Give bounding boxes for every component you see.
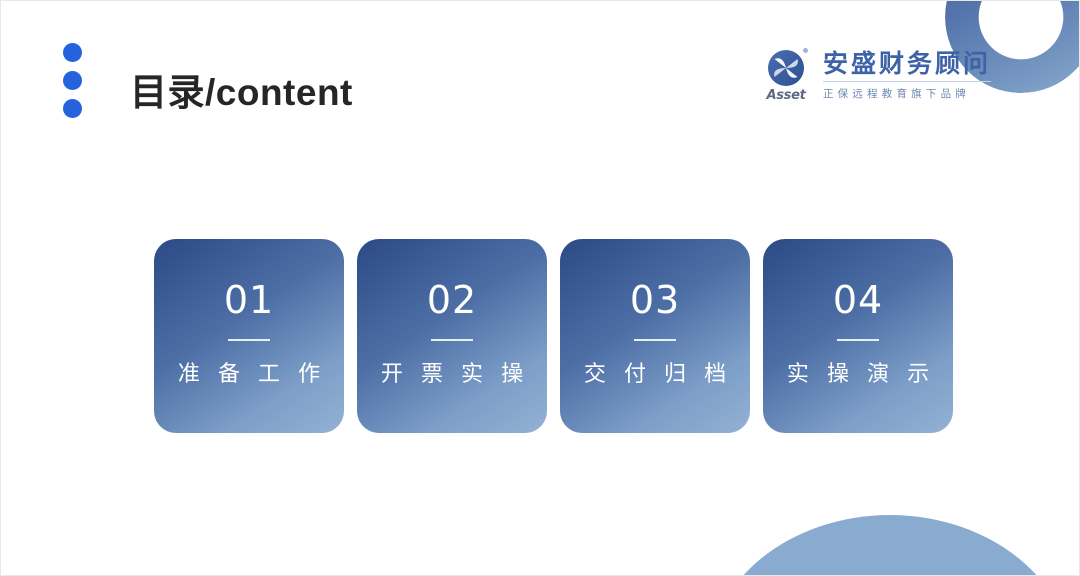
logo-tagline: 正保远程教育旗下品牌 [823,86,991,101]
card-number: 01 [224,281,274,319]
card-divider [431,339,473,341]
asset-pinwheel-icon [767,49,805,87]
logo-brand-name: 安盛财务顾问 [823,51,991,77]
content-card-02[interactable]: 02 开 票 实 操 [357,239,547,433]
content-card-03[interactable]: 03 交 付 归 档 [560,239,750,433]
card-divider [228,339,270,341]
content-card-04[interactable]: 04 实 操 演 示 [763,239,953,433]
logo-asset-wordmark: Asset [759,88,813,103]
bullet-dot-icon [63,71,82,90]
pinwheel-circle-icon [767,49,805,87]
bullet-dot-icon [63,43,82,62]
card-label: 准 备 工 作 [172,363,326,385]
content-card-list: 01 准 备 工 作 02 开 票 实 操 03 交 付 归 档 04 实 操 … [154,239,953,433]
logo-divider [823,81,991,82]
card-label: 交 付 归 档 [578,363,732,385]
card-label: 实 操 演 示 [781,363,935,385]
page-title: 目录/content [130,74,353,111]
bullet-dots-icon [63,43,82,118]
logo-text-block: 安盛财务顾问 正保远程教育旗下品牌 [823,49,991,101]
slide-header: 目录/content [63,41,353,118]
slide-canvas: 目录/content [0,0,1080,576]
card-number: 03 [630,281,680,319]
card-divider [837,339,879,341]
card-label: 开 票 实 操 [375,363,529,385]
registered-mark-dot-icon [803,48,808,53]
card-number: 02 [427,281,477,319]
card-number: 04 [833,281,883,319]
bullet-dot-icon [63,99,82,118]
logo-mark: Asset [759,49,813,103]
brand-logo: Asset 安盛财务顾问 正保远程教育旗下品牌 [759,49,991,103]
content-card-01[interactable]: 01 准 备 工 作 [154,239,344,433]
card-divider [634,339,676,341]
bottom-right-arc-decoration [707,515,1073,576]
